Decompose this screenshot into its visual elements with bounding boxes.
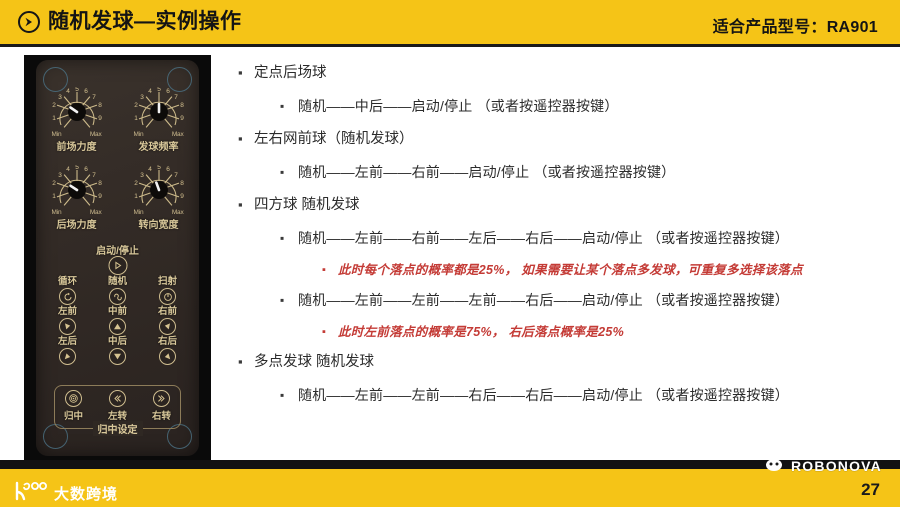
list-item: ▪ 随机——左前——左前——左前——右后——启动/停止 （或者按遥控器按键） — [280, 292, 888, 308]
chevron-double-left-icon[interactable] — [109, 390, 126, 407]
bullet-dot-icon: ▪ — [280, 292, 298, 308]
mode-button-row: 循环 随机 — [36, 276, 199, 305]
list-item: ▪ 左右网前球（随机发球） — [238, 131, 888, 147]
sweep-target-icon[interactable] — [159, 288, 176, 305]
function-button-matrix: 循环 随机 — [36, 276, 199, 366]
knob-dial-face[interactable]: 546 37 28 19 Min Max — [130, 87, 188, 137]
header-title-group: 随机发球—实例操作 — [18, 10, 242, 34]
svg-text:2: 2 — [52, 180, 56, 187]
svg-text:7: 7 — [92, 94, 96, 101]
bullet-dot-icon: ▪ — [238, 65, 254, 81]
svg-text:6: 6 — [166, 88, 170, 95]
svg-text:4: 4 — [66, 88, 70, 95]
arrow-down-right-icon[interactable] — [159, 348, 176, 365]
knob-front-power[interactable]: 546 37 28 19 Min Max 前场力度 — [42, 87, 112, 153]
knob-min-label: Min — [134, 209, 144, 216]
list-item: ▪ 多点发球 随机发球 — [238, 354, 888, 370]
button-label: 左前 — [58, 306, 77, 318]
mode-button-random[interactable]: 随机 — [98, 276, 138, 305]
knob-row-bottom: 546 37 28 19 Min Max 后场力度 — [36, 165, 199, 231]
control-panel-surface: 546 37 28 19 Min Max 前场力度 — [36, 60, 199, 456]
svg-text:4: 4 — [66, 166, 70, 173]
svg-text:8: 8 — [98, 180, 102, 187]
svg-text:2: 2 — [52, 102, 56, 109]
svg-text:5: 5 — [75, 165, 79, 171]
position-button-back-right[interactable]: 右后 — [148, 336, 188, 365]
home-button-center[interactable]: 归中 — [58, 390, 90, 422]
button-label: 右后 — [158, 336, 177, 348]
list-item-label: 多点发球 随机发球 — [254, 354, 374, 370]
button-label: 中前 — [108, 306, 127, 318]
bullet-dot-icon: ▪ — [322, 263, 338, 278]
list-item: ▪ 随机——左前——右前——左后——右后——启动/停止 （或者按遥控器按键） — [280, 230, 888, 246]
knob-turn-width[interactable]: 546 37 28 19 Min Max 转向宽度 — [124, 165, 194, 231]
product-model-label: 适合产品型号：RA901 — [713, 13, 878, 37]
list-item-label: 随机——左前——右前——左后——右后——启动/停止 （或者按遥控器按键） — [298, 230, 789, 246]
list-item: ▪ 随机——左前——右前——启动/停止 （或者按遥控器按键） — [280, 164, 888, 180]
list-item: ▪ 随机——左前——左前——右后——右后——启动/停止 （或者按遥控器按键） — [280, 387, 888, 403]
svg-text:4: 4 — [148, 166, 152, 173]
back-position-button-row: 左后 中后 — [36, 336, 199, 365]
knob-serve-frequency[interactable]: 546 37 28 19 Min Max 发球频率 — [124, 87, 194, 153]
slide-body: 546 37 28 19 Min Max 前场力度 — [0, 47, 900, 460]
button-label: 右转 — [152, 408, 171, 422]
page-number: 27 — [861, 480, 880, 500]
position-button-front-right[interactable]: 右前 — [148, 306, 188, 335]
home-center-setting-group: 归中 左转 — [54, 385, 181, 429]
start-stop-button[interactable] — [108, 256, 127, 275]
knob-max-label: Max — [90, 209, 102, 216]
position-button-front-center[interactable]: 中前 — [98, 306, 138, 335]
arrow-up-right-icon[interactable] — [159, 318, 176, 335]
home-button-turn-right[interactable]: 右转 — [146, 390, 178, 422]
bullet-dot-icon: ▪ — [238, 354, 254, 370]
button-label: 循环 — [58, 276, 77, 288]
knob-dial-face[interactable]: 546 37 28 19 Min Max — [48, 87, 106, 137]
home-group-caption: 归中设定 — [93, 421, 143, 436]
note-item: ▪ 此时左前落点的概率是75%， 右后落点概率是25% — [322, 325, 888, 340]
svg-text:3: 3 — [58, 94, 62, 101]
svg-text:2: 2 — [134, 180, 138, 187]
list-item-label: 定点后场球 — [254, 65, 327, 81]
mode-button-loop[interactable]: 循环 — [48, 276, 88, 305]
footer-right-brand: ROBONOVA — [764, 455, 882, 477]
robonova-logo-icon — [764, 455, 786, 477]
footer-left-brand: 大数跨境 — [14, 481, 118, 506]
page-title: 随机发球—实例操作 — [48, 10, 242, 34]
list-item-label: 四方球 随机发球 — [254, 197, 360, 213]
button-label: 归中 — [64, 408, 83, 422]
knob-min-label: Min — [134, 131, 144, 138]
bullet-dot-icon: ▪ — [238, 131, 254, 147]
chevron-double-right-icon[interactable] — [153, 390, 170, 407]
knob-minmax: Min Max — [48, 131, 106, 138]
arrow-up-left-icon[interactable] — [59, 318, 76, 335]
bullet-content-list: ▪ 定点后场球 ▪ 随机——中后——启动/停止 （或者按遥控器按键） ▪ 左右网… — [238, 65, 888, 420]
button-label: 中后 — [108, 336, 127, 348]
knob-max-label: Max — [172, 209, 184, 216]
button-label: 左转 — [108, 408, 127, 422]
footer-right-brand-label: ROBONOVA — [791, 458, 882, 474]
knob-dial-face[interactable]: 546 37 28 19 Min Max — [48, 165, 106, 215]
svg-text:7: 7 — [174, 94, 178, 101]
note-label: 此时左前落点的概率是75%， 右后落点概率是25% — [338, 325, 624, 340]
knob-minmax: Min Max — [48, 209, 106, 216]
list-item-label: 随机——左前——左前——左前——右后——启动/停止 （或者按遥控器按键） — [298, 292, 789, 308]
knob-label: 发球频率 — [139, 138, 179, 153]
play-circle-icon[interactable] — [108, 256, 127, 275]
knob-max-label: Max — [172, 131, 184, 138]
bullet-dot-icon: ▪ — [280, 164, 298, 180]
knob-min-label: Min — [52, 209, 62, 216]
svg-text:9: 9 — [98, 193, 102, 200]
list-item-label: 随机——中后——启动/停止 （或者按遥控器按键） — [298, 98, 619, 114]
home-button-row: 归中 左转 — [55, 386, 180, 422]
svg-text:5: 5 — [157, 165, 161, 171]
svg-text:1: 1 — [52, 193, 56, 200]
button-label: 右前 — [158, 306, 177, 318]
knob-label: 前场力度 — [57, 138, 97, 153]
svg-text:2: 2 — [134, 102, 138, 109]
start-stop-label: 启动/停止 — [36, 242, 199, 257]
arrow-up-icon[interactable] — [109, 318, 126, 335]
svg-text:8: 8 — [180, 102, 184, 109]
svg-text:8: 8 — [180, 180, 184, 187]
knob-label: 后场力度 — [57, 216, 97, 231]
list-item-label: 左右网前球（随机发球） — [254, 131, 414, 147]
button-label: 随机 — [108, 276, 127, 288]
dashu-kuajing-logo-icon — [14, 481, 48, 506]
svg-text:6: 6 — [84, 88, 88, 95]
knob-grid: 546 37 28 19 Min Max 前场力度 — [36, 87, 199, 231]
svg-text:1: 1 — [134, 193, 138, 200]
svg-text:6: 6 — [84, 166, 88, 173]
position-button-back-center[interactable]: 中后 — [98, 336, 138, 365]
svg-text:7: 7 — [174, 172, 178, 179]
home-button-turn-left[interactable]: 左转 — [102, 390, 134, 422]
bullet-dot-icon: ▪ — [280, 98, 298, 114]
bullet-dot-icon: ▪ — [280, 230, 298, 246]
svg-text:9: 9 — [180, 115, 184, 122]
bullet-dot-icon: ▪ — [280, 387, 298, 403]
loop-circle-icon[interactable] — [59, 288, 76, 305]
svg-text:3: 3 — [140, 172, 144, 179]
svg-text:6: 6 — [166, 166, 170, 173]
svg-text:5: 5 — [75, 87, 79, 93]
slide-header: 随机发球—实例操作 适合产品型号：RA901 — [0, 0, 900, 47]
knob-row-top: 546 37 28 19 Min Max 前场力度 — [36, 87, 199, 153]
svg-text:8: 8 — [98, 102, 102, 109]
arrow-down-icon[interactable] — [109, 348, 126, 365]
random-infinity-icon[interactable] — [109, 288, 126, 305]
svg-text:4: 4 — [148, 88, 152, 95]
play-arrow-circle-icon — [18, 11, 40, 33]
svg-text:3: 3 — [140, 94, 144, 101]
list-item-label: 随机——左前——右前——启动/停止 （或者按遥控器按键） — [298, 164, 675, 180]
knob-minmax: Min Max — [130, 131, 188, 138]
position-button-front-left[interactable]: 左前 — [48, 306, 88, 335]
front-position-button-row: 左前 中前 — [36, 306, 199, 335]
knob-dial-face[interactable]: 546 37 28 19 Min Max — [130, 165, 188, 215]
svg-text:1: 1 — [134, 115, 138, 122]
note-item: ▪ 此时每个落点的概率都是25%， 如果需要让某个落点多发球，可重复多选择该落点 — [322, 263, 888, 278]
list-item: ▪ 定点后场球 — [238, 65, 888, 81]
list-item-label: 随机——左前——左前——右后——右后——启动/停止 （或者按遥控器按键） — [298, 387, 789, 403]
list-item: ▪ 随机——中后——启动/停止 （或者按遥控器按键） — [280, 98, 888, 114]
center-target-icon[interactable] — [65, 390, 82, 407]
knob-minmax: Min Max — [130, 209, 188, 216]
note-label: 此时每个落点的概率都是25%， 如果需要让某个落点多发球，可重复多选择该落点 — [338, 263, 803, 278]
arrow-down-left-icon[interactable] — [59, 348, 76, 365]
knob-max-label: Max — [90, 131, 102, 138]
knob-label: 转向宽度 — [139, 216, 179, 231]
position-button-back-left[interactable]: 左后 — [48, 336, 88, 365]
list-item: ▪ 四方球 随机发球 — [238, 197, 888, 213]
machine-control-panel-photo: 546 37 28 19 Min Max 前场力度 — [24, 55, 211, 460]
button-label: 扫射 — [158, 276, 177, 288]
footer-left-brand-label: 大数跨境 — [54, 483, 118, 504]
svg-text:5: 5 — [157, 87, 161, 93]
button-label: 左后 — [58, 336, 77, 348]
svg-text:1: 1 — [52, 115, 56, 122]
svg-text:9: 9 — [180, 193, 184, 200]
svg-text:9: 9 — [98, 115, 102, 122]
bullet-dot-icon: ▪ — [322, 325, 338, 340]
svg-text:7: 7 — [92, 172, 96, 179]
knob-min-label: Min — [52, 131, 62, 138]
bullet-dot-icon: ▪ — [238, 197, 254, 213]
knob-back-power[interactable]: 546 37 28 19 Min Max 后场力度 — [42, 165, 112, 231]
mode-button-sweep[interactable]: 扫射 — [148, 276, 188, 305]
svg-text:3: 3 — [58, 172, 62, 179]
